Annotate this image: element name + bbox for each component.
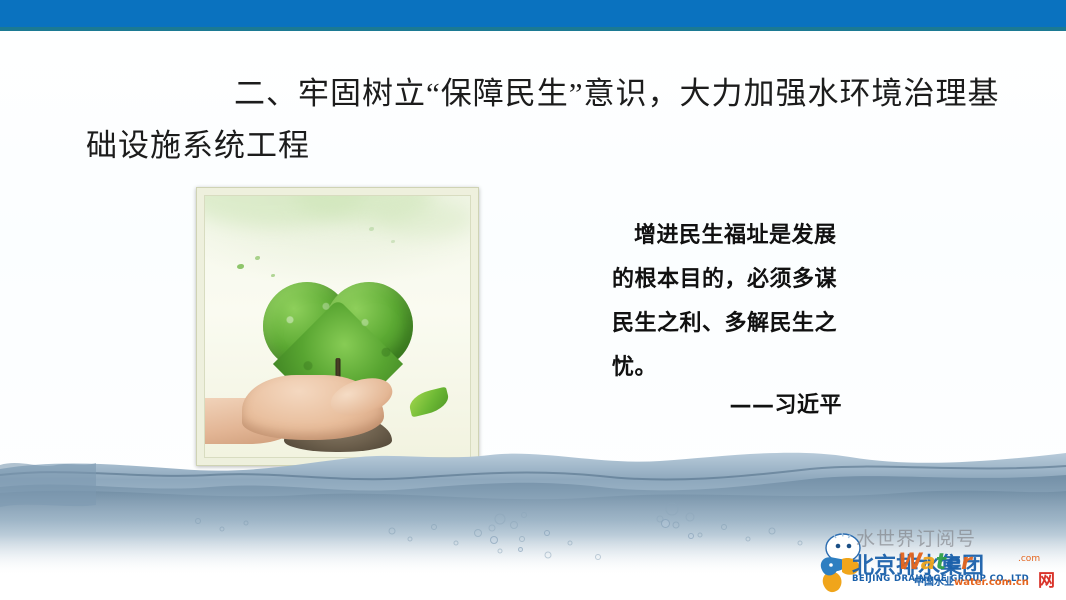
water-letter: e bbox=[946, 550, 961, 575]
leaf-speck bbox=[369, 227, 374, 231]
watermark-group: 水世界订阅号 北京排水集团 Water .com BEIJING DRAINAG… bbox=[816, 520, 1066, 600]
heart-tree-in-hands-image bbox=[204, 195, 471, 458]
water-letter: a bbox=[921, 550, 936, 575]
china-water-watermark: 中国水业water.com.cn bbox=[914, 573, 1029, 588]
green-haze bbox=[375, 201, 471, 238]
quote-attribution: ——习近平 bbox=[612, 387, 842, 419]
top-bar-shadow-line bbox=[0, 27, 1066, 31]
water-letter: W bbox=[898, 550, 921, 575]
china-water-net-character: 网 bbox=[1038, 566, 1055, 591]
slide-canvas: 二、牢固树立“保障民生”意识，大力加强水环境治理基础设施系统工程 bbox=[0, 0, 1066, 600]
top-blue-bar bbox=[0, 0, 1066, 27]
leaf-speck bbox=[255, 256, 260, 260]
leaf-speck bbox=[391, 240, 395, 243]
cupped-hands bbox=[204, 332, 428, 447]
page-title: 二、牢固树立“保障民生”意识，大力加强水环境治理基础设施系统工程 bbox=[86, 68, 1006, 172]
domain-suffix: .com bbox=[1018, 554, 1040, 564]
water-wordmark: Water bbox=[898, 550, 972, 575]
quote-text: 增进民生福址是发展的根本目的，必须多谋民生之利、多解民生之忧。 bbox=[612, 214, 842, 390]
picture-frame bbox=[196, 187, 479, 466]
china-water-chinese: 中国水业 bbox=[914, 577, 954, 588]
beijing-drainage-group-watermark: 北京排水集团 Water .com BEIJING DRAINAGE GROUP… bbox=[852, 548, 1066, 596]
water-letter: r bbox=[961, 550, 972, 575]
water-letter: t bbox=[936, 550, 947, 575]
leaf-speck bbox=[271, 274, 275, 277]
leaf-speck bbox=[237, 264, 244, 269]
wechat-account-label: 水世界订阅号 bbox=[856, 524, 976, 551]
china-water-domain: water.com.cn bbox=[954, 577, 1029, 588]
